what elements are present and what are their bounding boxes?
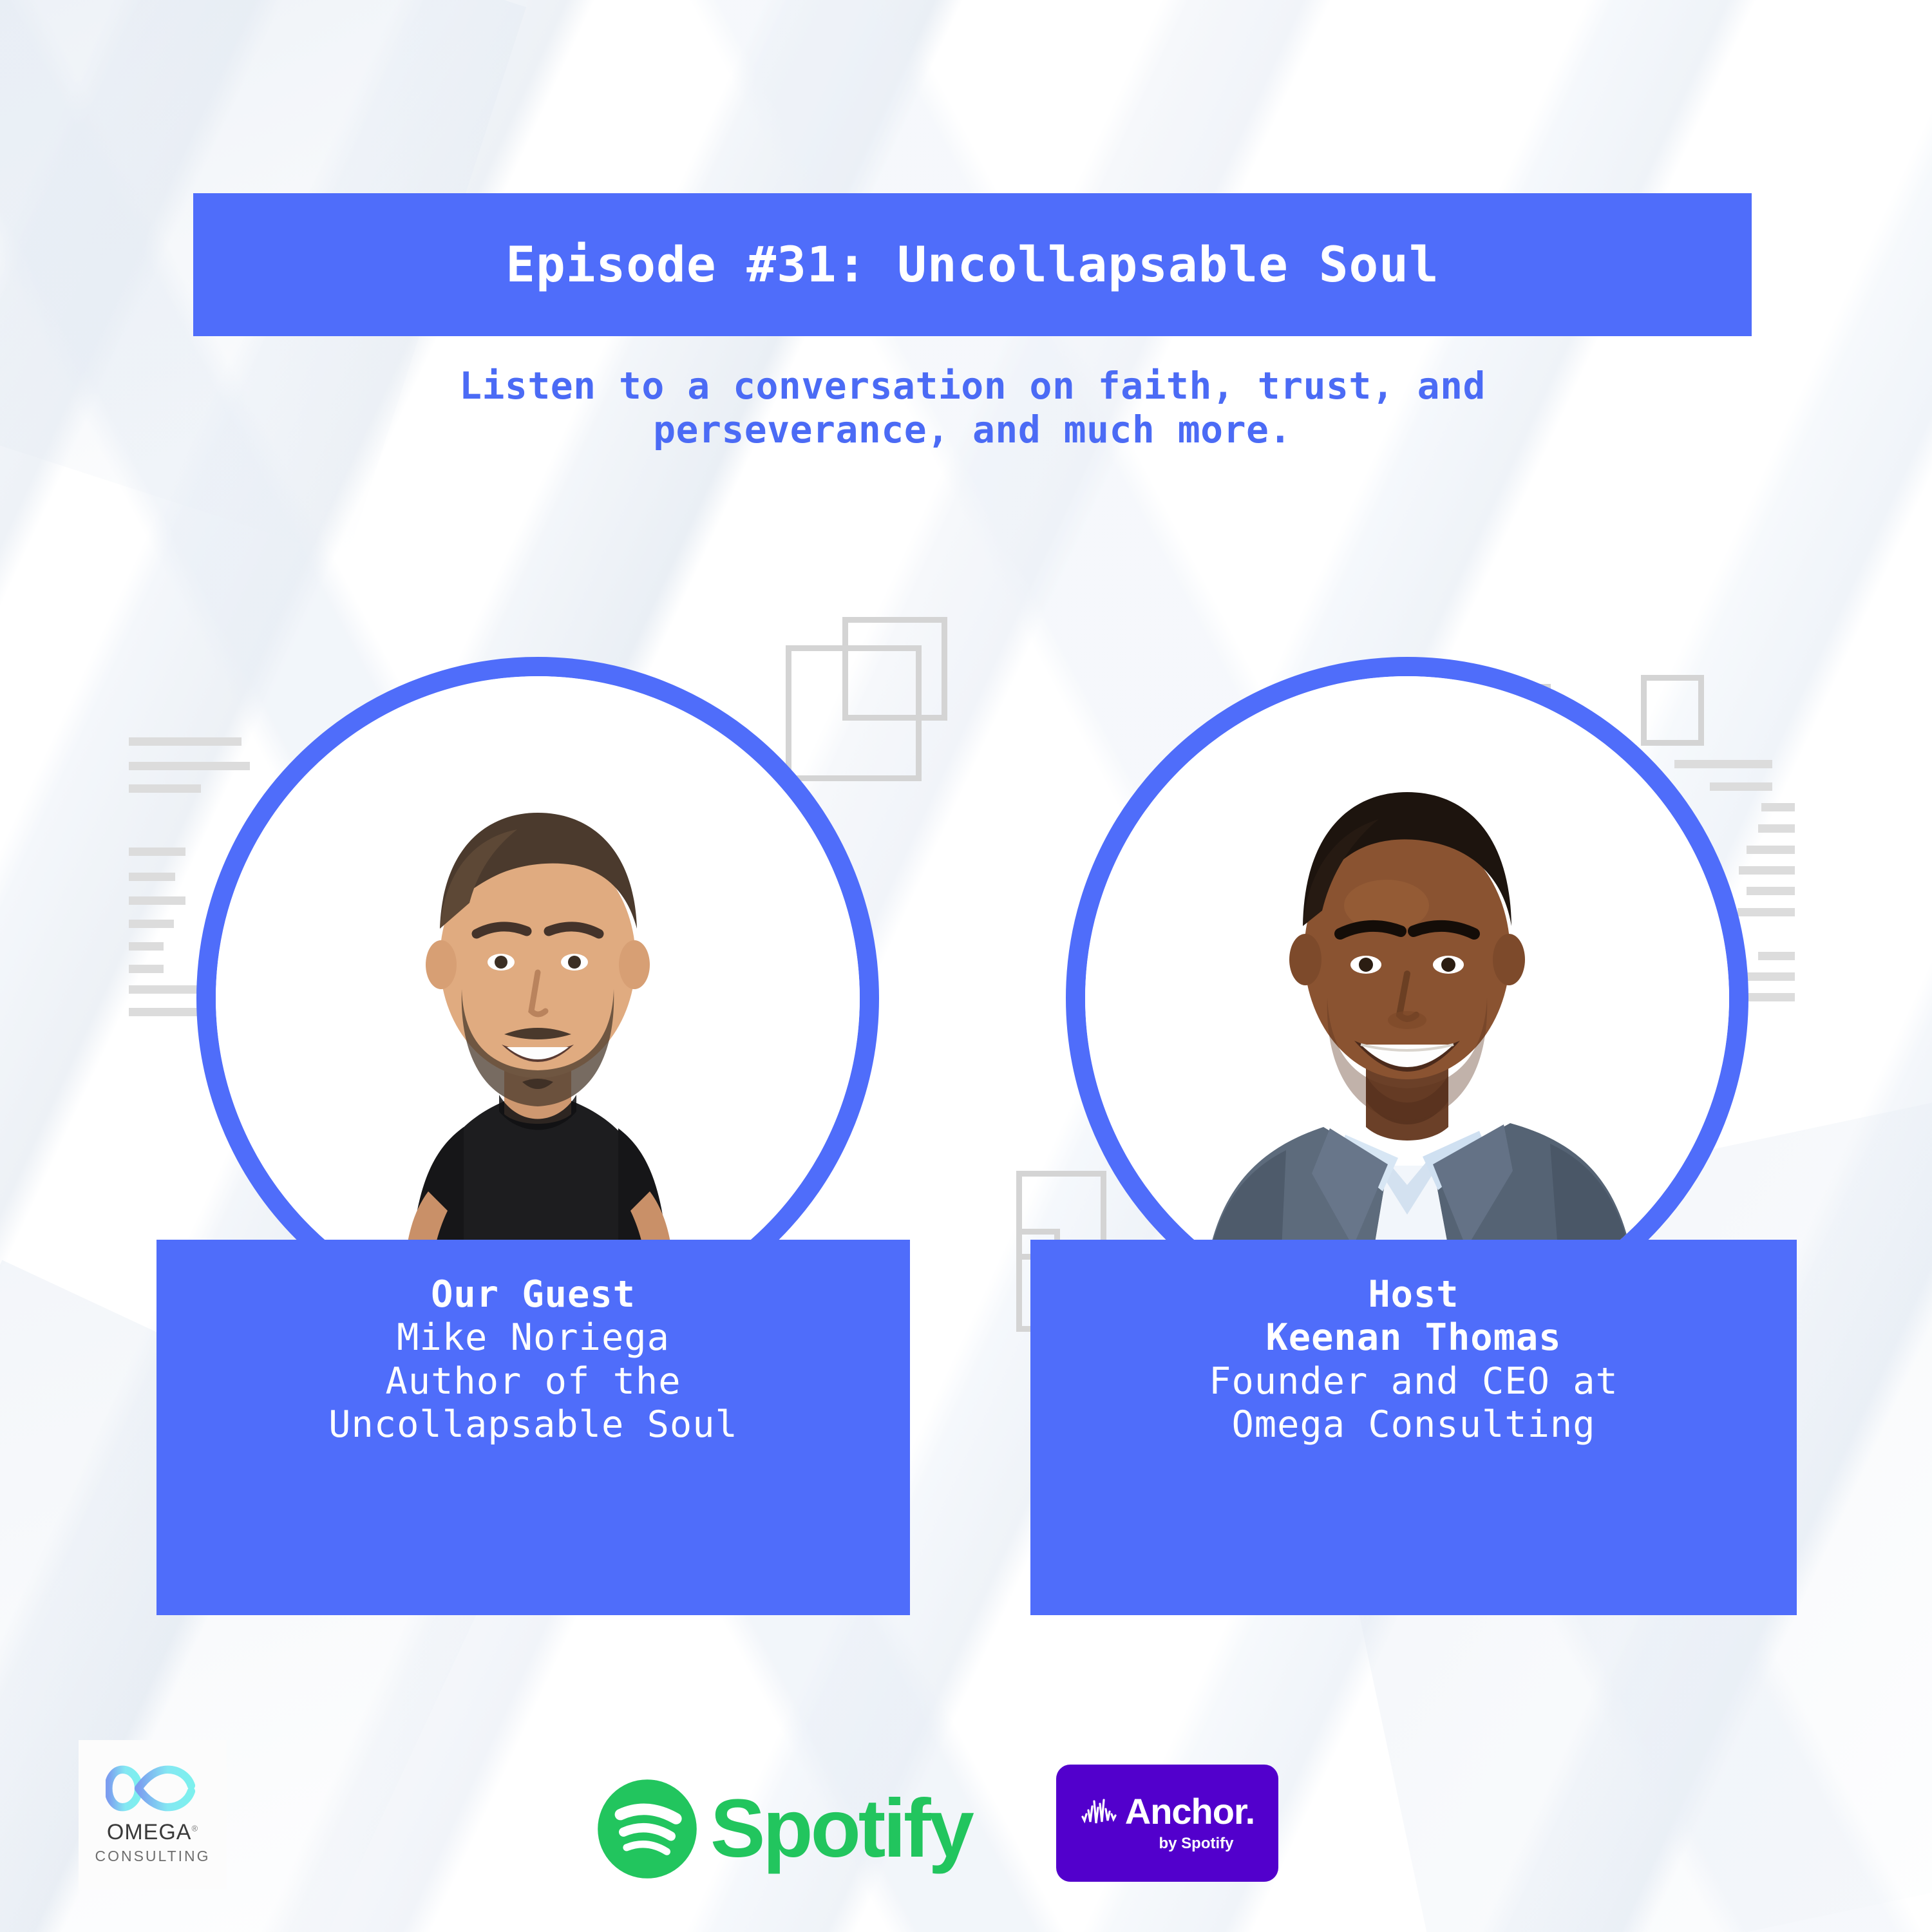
anchor-logo-row: Anchor. [1080,1794,1255,1830]
host-caption-box: Host Keenan Thomas Founder and CEO at Om… [1030,1240,1797,1615]
omega-infinity-mark [106,1765,200,1812]
page-title: Episode #31: Uncollapsable Soul [506,240,1439,289]
host-desc-line-1: Founder and CEO at [1030,1360,1797,1403]
host-portrait-image [1085,676,1729,1320]
anchor-wordmark: Anchor. [1125,1794,1255,1830]
decor-line-right [1758,952,1795,960]
guest-desc-line-1: Author of the [156,1360,910,1403]
host-role-label: Host [1030,1273,1797,1316]
host-desc-line-2: Omega Consulting [1030,1403,1797,1446]
omega-wordmark: OMEGA® [107,1820,198,1845]
omega-consulting-logo[interactable]: OMEGA® CONSULTING [79,1740,227,1889]
decor-line-right [1747,887,1795,895]
guest-role-label: Our Guest [156,1273,910,1316]
spotify-circle-icon [596,1777,699,1880]
decor-line-left [129,873,175,881]
anchor-waveform-icon [1080,1795,1121,1828]
decor-line-left [129,920,174,928]
spotify-wordmark: Spotify [710,1788,972,1870]
anchor-byline: by Spotify [1159,1835,1233,1853]
subtitle-line-2: perseverance, and much more. [193,408,1752,451]
host-name: Keenan Thomas [1030,1316,1797,1359]
decor-line-right [1739,866,1795,875]
subtitle-line-1: Listen to a conversation on faith, trust… [193,364,1752,408]
decor-line-left [129,965,164,973]
decor-line-left [129,896,185,905]
episode-subtitle: Listen to a conversation on faith, trust… [193,364,1752,452]
decor-line-left [129,942,164,951]
episode-title-banner: Episode #31: Uncollapsable Soul [193,193,1752,336]
decor-line-right [1758,824,1795,833]
host-portrait-circle [1066,657,1748,1340]
decor-line-right [1738,908,1795,916]
podcast-episode-graphic: Episode #31: Uncollapsable Soul Listen t… [0,0,1932,1932]
omega-word-text: OMEGA [107,1820,192,1844]
decor-line-right [1747,846,1795,854]
omega-subtitle: CONSULTING [95,1848,210,1865]
guest-desc-line-2: Uncollapsable Soul [156,1403,910,1446]
anchor-logo[interactable]: Anchor. by Spotify [1056,1765,1278,1882]
decor-line-left [129,784,201,793]
decor-line-left [129,985,198,994]
registered-trademark-icon: ® [191,1824,198,1833]
guest-portrait-circle [196,657,879,1340]
decor-line-left [129,848,185,856]
guest-name: Mike Noriega [156,1316,910,1359]
guest-caption-box: Our Guest Mike Noriega Author of the Unc… [156,1240,910,1615]
spotify-logo[interactable]: Spotify [596,1777,972,1880]
guest-portrait-image [216,676,860,1320]
decor-line-right [1761,803,1795,811]
